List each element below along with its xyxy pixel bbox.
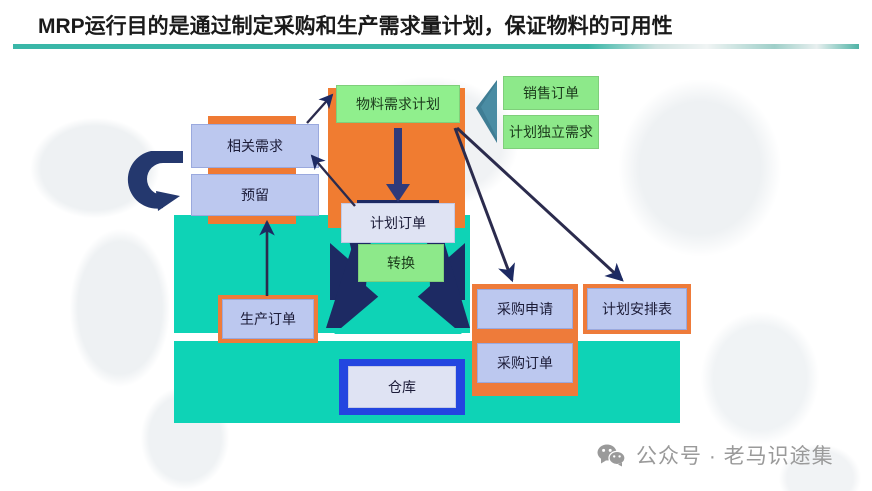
arrow-planned-to-mrp [307, 95, 332, 123]
slide: MRP运行目的是通过制定采购和生产需求量计划，保证物料的可用性 [0, 0, 872, 491]
loop-arrow-icon [128, 151, 183, 211]
watermark: 公众号 · 老马识途集 [596, 440, 834, 470]
mrp-flow-diagram: 相关需求 预留 物料需求计划 计划订单 转换 销售订单 计划独立需求 [0, 48, 872, 491]
arrow-mrp-to-planned-order [386, 128, 410, 202]
wechat-icon [596, 443, 626, 467]
arrow-mrp-to-planning-schedule [457, 128, 622, 280]
arrow-planned-to-related-demand [312, 156, 355, 206]
watermark-text: 公众号 · 老马识途集 [636, 440, 834, 470]
page-title: MRP运行目的是通过制定采购和生产需求量计划，保证物料的可用性 [38, 10, 673, 40]
flow-arrows [0, 48, 872, 491]
